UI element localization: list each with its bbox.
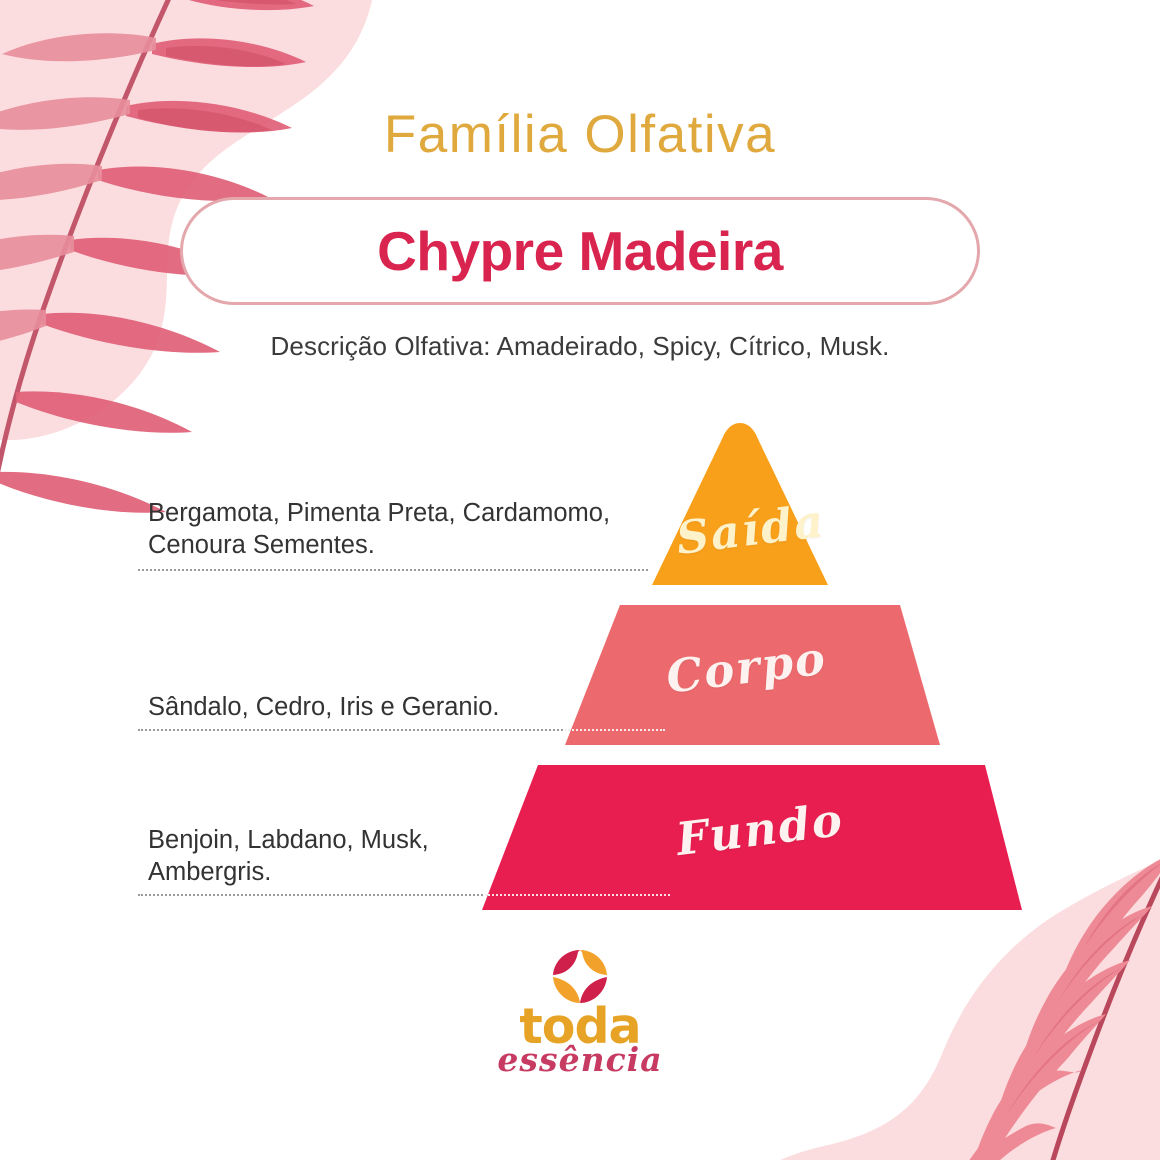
logo-wordmark-secondary: essência <box>0 1043 1160 1076</box>
dot-separator-base-overlay <box>485 892 670 896</box>
dot-separator-middle <box>138 727 570 731</box>
fragrance-name: Chypre Madeira <box>377 224 783 279</box>
olfactory-description: Descrição Olfativa: Amadeirado, Spicy, C… <box>0 331 1160 362</box>
dot-separator-middle-overlay <box>565 727 665 731</box>
dot-separator-base <box>138 892 490 896</box>
trapezoid-shape-middle <box>0 605 1160 745</box>
infographic-canvas: Família Olfativa Chypre Madeira Descriçã… <box>0 0 1160 1160</box>
page-title: Família Olfativa <box>0 0 1160 161</box>
pyramid-level-middle: Sândalo, Cedro, Iris e Geranio. Corpo <box>0 605 1160 745</box>
pyramid-level-top: Bergamota, Pimenta Preta, Cardamomo, Cen… <box>0 415 1160 585</box>
dot-separator-top <box>138 567 648 571</box>
header: Família Olfativa Chypre Madeira Descriçã… <box>0 0 1160 362</box>
brand-logo: toda essência <box>0 948 1160 1076</box>
fragrance-name-pill: Chypre Madeira <box>180 197 980 305</box>
notes-middle: Sândalo, Cedro, Iris e Geranio. <box>148 691 618 723</box>
notes-base: Benjoin, Labdano, Musk, Ambergris. <box>148 824 568 888</box>
notes-top: Bergamota, Pimenta Preta, Cardamomo, Cen… <box>148 497 668 561</box>
fragrance-pyramid: Bergamota, Pimenta Preta, Cardamomo, Cen… <box>0 400 1160 930</box>
pyramid-level-base: Benjoin, Labdano, Musk, Ambergris. Fundo <box>0 765 1160 910</box>
